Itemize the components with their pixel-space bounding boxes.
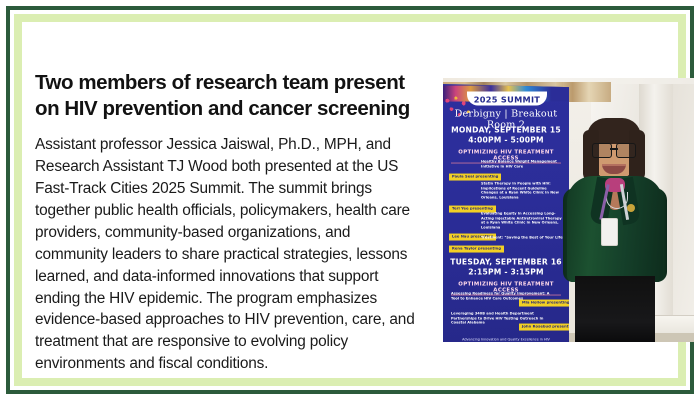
presenter-figure (561, 118, 669, 342)
poster-content: 2025 SUMMIT Derbigny | Breakout Room 2 M… (443, 86, 569, 342)
poster-talk-item: Treatment: "Saving the Best of Your Life… (481, 236, 565, 241)
conference-photo: 2025 SUMMIT Derbigny | Breakout Room 2 M… (443, 78, 694, 342)
card-inner-border: Two members of research team present on … (14, 14, 686, 386)
eyeglasses (592, 143, 636, 156)
article-text-column: Two members of research team present on … (35, 70, 427, 375)
conference-poster-board: 2025 SUMMIT Derbigny | Breakout Room 2 M… (443, 84, 569, 342)
poster-talk-item: Statin Therapy in People with HIV: Impli… (481, 182, 565, 201)
lapel-pin (627, 204, 635, 212)
poster-summit-badge: 2025 SUMMIT (467, 92, 547, 106)
poster-talk-item: Healthy Balance Weight Management Initia… (481, 160, 565, 169)
name-badge (601, 218, 618, 246)
skirt (575, 276, 655, 342)
article-card: Two members of research team present on … (6, 6, 694, 394)
poster-presenter-tag: Rena Taylor presenting (449, 246, 504, 253)
poster-talk-item: Evaluating Equity in Accessing Long-Acti… (481, 212, 565, 231)
poster-presenter-tag: Paula Seal presenting (449, 174, 501, 181)
card-content: Two members of research team present on … (22, 22, 678, 378)
page-title: Two members of research team present on … (35, 70, 427, 122)
lens-right (616, 143, 636, 158)
poster-footer-text: Advancing Innovation and Quality Excelle… (449, 338, 563, 342)
poster-session1-date: MONDAY, SEPTEMBER 15 4:00PM - 5:00PM (443, 126, 569, 147)
lens-left (592, 143, 612, 158)
poster-session2-date: TUESDAY, SEPTEMBER 16 2:15PM - 3:15PM (443, 258, 569, 279)
article-body: Assistant professor Jessica Jaiswal, Ph.… (35, 134, 427, 375)
